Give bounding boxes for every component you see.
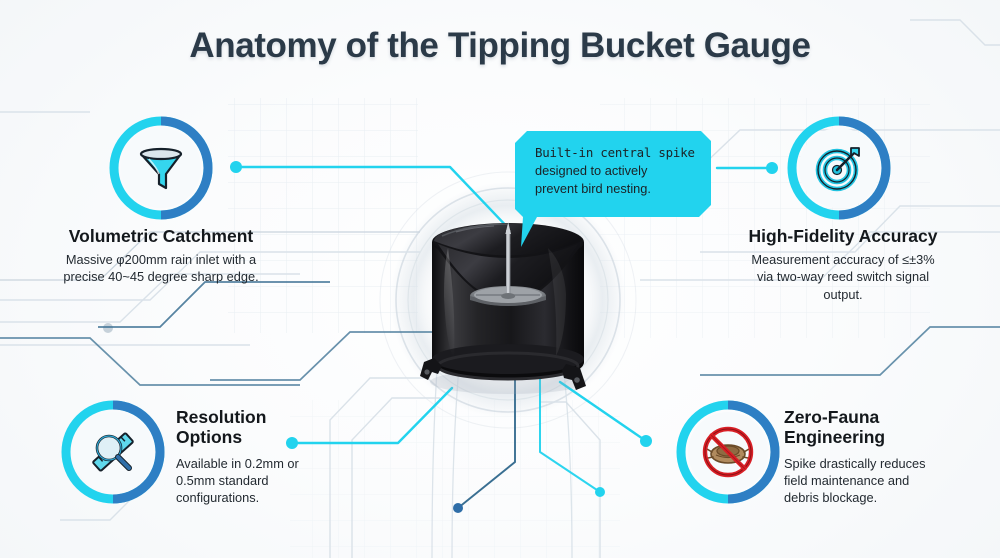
feature-desc-fauna-3: debris blockage. [784, 489, 952, 506]
feature-title-resolution-1: Resolution [176, 407, 338, 427]
funnel-icon [133, 140, 189, 196]
feature-desc-fauna-2: field maintenance and [784, 472, 952, 489]
feature-fauna: Zero-Fauna Engineering Spike drastically… [784, 407, 952, 506]
feature-catchment: Volumetric Catchment Massive φ200mm rain… [18, 226, 304, 286]
callout-line-1: Built-in central spike [535, 144, 713, 162]
target-icon [811, 140, 867, 196]
magnifier-ruler-icon [85, 424, 141, 480]
feature-title-fauna-2: Engineering [784, 427, 952, 447]
feature-resolution: Resolution Options Available in 0.2mm or… [176, 407, 338, 506]
feature-title-catchment: Volumetric Catchment [18, 226, 304, 246]
node-dot-accuracy [766, 162, 778, 174]
feature-desc-catchment-2: precise 40~45 degree sharp edge. [18, 268, 304, 285]
feature-desc-accuracy-2: via two-way reed switch signal [700, 268, 986, 285]
callout-bubble: Built-in central spike designed to activ… [519, 133, 719, 216]
feature-accuracy: High-Fidelity Accuracy Measurement accur… [700, 226, 986, 303]
icon-ring-resolution[interactable] [58, 397, 168, 507]
feature-desc-catchment-1: Massive φ200mm rain inlet with a [18, 251, 304, 268]
feature-desc-fauna-1: Spike drastically reduces [784, 455, 952, 472]
feature-desc-accuracy-1: Measurement accuracy of ≤±3% [700, 251, 986, 268]
node-dot-down [595, 487, 605, 497]
feature-desc-accuracy-3: output. [700, 286, 986, 303]
page-title: Anatomy of the Tipping Bucket Gauge [0, 26, 1000, 66]
feature-title-fauna-1: Zero-Fauna [784, 407, 952, 427]
no-nest-icon [700, 424, 756, 480]
feature-desc-resolution-2: 0.5mm standard [176, 472, 338, 489]
icon-ring-accuracy[interactable] [784, 113, 894, 223]
icon-ring-fauna[interactable] [673, 397, 783, 507]
feature-desc-resolution-1: Available in 0.2mm or [176, 455, 338, 472]
feature-title-resolution-2: Options [176, 427, 338, 447]
callout-line-2: designed to actively [535, 162, 713, 180]
node-dot-fauna [640, 435, 652, 447]
callout-line-3: prevent bird nesting. [535, 180, 713, 198]
callout-text: Built-in central spike designed to activ… [535, 144, 713, 198]
icon-ring-catchment[interactable] [106, 113, 216, 223]
feature-desc-resolution-3: configurations. [176, 489, 338, 506]
feature-title-accuracy: High-Fidelity Accuracy [700, 226, 986, 246]
node-dot-catchment [230, 161, 242, 173]
